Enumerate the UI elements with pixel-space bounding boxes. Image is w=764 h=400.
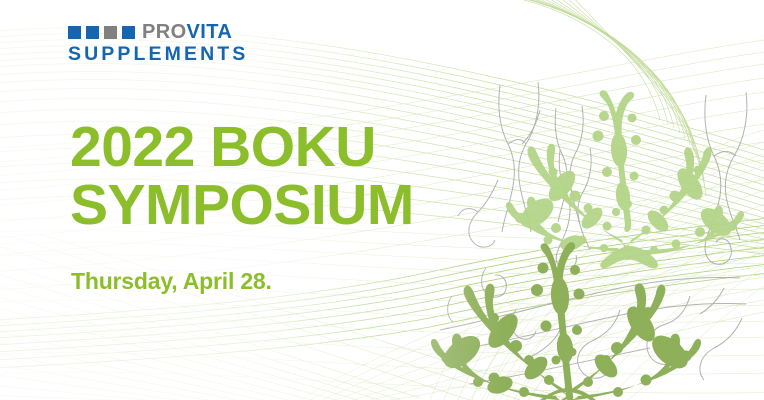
logo-square-3 (104, 26, 117, 39)
headline-block: 2022 BOKU SYMPOSIUM (70, 118, 414, 234)
event-date: Thursday, April 28. (71, 268, 272, 295)
headline-line-1: 2022 BOKU (70, 118, 414, 176)
logo-supplements-text: SUPPLEMENTS (68, 45, 248, 65)
provita-supplements-logo: PROVITA SUPPLEMENTS (68, 22, 248, 65)
symposium-banner: PROVITA SUPPLEMENTS 2022 BOKU SYMPOSIUM … (0, 0, 764, 400)
logo-square-1 (68, 26, 81, 39)
logo-wordmark: PROVITA (142, 22, 232, 42)
logo-square-4 (122, 26, 135, 39)
logo-wordmark-pro: PRO (142, 21, 187, 43)
logo-top-row: PROVITA (68, 22, 248, 42)
headline-line-2: SYMPOSIUM (70, 176, 414, 234)
logo-square-2 (86, 26, 99, 39)
logo-wordmark-vita: VITA (187, 21, 233, 43)
